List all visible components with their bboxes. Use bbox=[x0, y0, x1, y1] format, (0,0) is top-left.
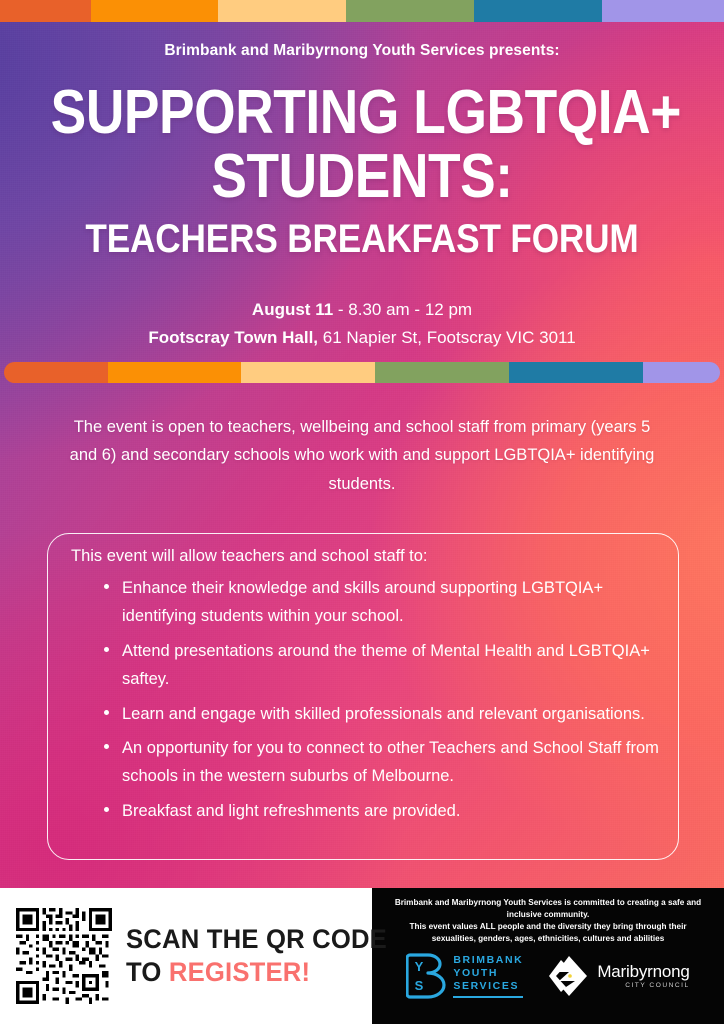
footer-logos: Y S BRIMBANK YOUTH SERVICES bbox=[372, 952, 724, 1000]
outcome-list-item: Attend presentations around the theme of… bbox=[100, 637, 666, 694]
maribyrnong-diamond-icon bbox=[545, 954, 589, 998]
outcome-list-item-label: Learn and engage with skilled profession… bbox=[122, 705, 645, 723]
stripe-orange bbox=[91, 0, 219, 22]
outcome-list-item-label: Breakfast and light refreshments are pro… bbox=[122, 802, 460, 820]
bys-mark-letter-s: S bbox=[415, 978, 424, 993]
stripe-green bbox=[346, 0, 474, 22]
outcome-list-item: An opportunity for you to connect to oth… bbox=[100, 734, 666, 791]
scan-instruction: SCAN THE QR CODE TO REGISTER! bbox=[126, 923, 387, 989]
scan-line-2-prefix: TO bbox=[126, 957, 169, 987]
outcome-list-item-label: An opportunity for you to connect to oth… bbox=[122, 739, 659, 785]
top-stripe-bar bbox=[0, 0, 724, 22]
page-title-line-1: SUPPORTING LGBTQIA+ bbox=[51, 84, 674, 142]
outcome-list-item: Learn and engage with skilled profession… bbox=[100, 700, 666, 728]
event-time: - 8.30 am - 12 pm bbox=[333, 300, 472, 319]
qr-panel: SCAN THE QR CODE TO REGISTER! bbox=[0, 888, 372, 1024]
bys-word-services: SERVICES bbox=[453, 980, 523, 993]
bullet-dot-icon bbox=[104, 710, 109, 715]
bullet-dot-icon bbox=[104, 647, 109, 652]
event-venue-line: Footscray Town Hall, 61 Napier St, Foots… bbox=[0, 324, 724, 352]
bullet-dot-icon bbox=[104, 744, 109, 749]
brimbank-youth-services-logo: Y S BRIMBANK YOUTH SERVICES bbox=[406, 952, 523, 1000]
bottom-section: SCAN THE QR CODE TO REGISTER! Brimbank a… bbox=[0, 888, 724, 1024]
maribyrnong-name: Maribyrnong bbox=[597, 963, 689, 980]
event-date-line: August 11 - 8.30 am - 12 pm bbox=[0, 296, 724, 324]
event-details: August 11 - 8.30 am - 12 pm Footscray To… bbox=[0, 296, 724, 352]
qr-code[interactable] bbox=[16, 908, 112, 1004]
poster: Brimbank and Maribyrnong Youth Services … bbox=[0, 0, 724, 1024]
scan-line-1: SCAN THE QR CODE bbox=[126, 923, 387, 956]
maribyrnong-wordmark: Maribyrnong CITY COUNCIL bbox=[597, 963, 689, 989]
page-title-line-2: STUDENTS: bbox=[51, 148, 674, 206]
stripe-peach bbox=[241, 362, 375, 383]
outcomes-list: Enhance their knowledge and skills aroun… bbox=[100, 574, 666, 831]
bullet-dot-icon bbox=[104, 807, 109, 812]
presents-line: Brimbank and Maribyrnong Youth Services … bbox=[0, 42, 724, 60]
maribyrnong-city-council-logo: Maribyrnong CITY COUNCIL bbox=[545, 954, 689, 998]
event-date-bold: August 11 bbox=[252, 300, 333, 319]
maribyrnong-subtitle: CITY COUNCIL bbox=[597, 982, 689, 989]
stripe-orange-dark bbox=[4, 362, 108, 383]
bys-word-youth: YOUTH bbox=[453, 967, 523, 980]
stripe-green bbox=[375, 362, 509, 383]
maribyrnong-dot-icon bbox=[569, 974, 573, 978]
stripe-peach bbox=[218, 0, 346, 22]
page-subtitle: TEACHERS BREAKFAST FORUM bbox=[43, 217, 680, 262]
outcomes-box: This event will allow teachers and schoo… bbox=[47, 533, 679, 860]
stripe-orange bbox=[108, 362, 241, 383]
bys-wordmark: BRIMBANK YOUTH SERVICES bbox=[453, 954, 523, 994]
intro-paragraph: The event is open to teachers, wellbeing… bbox=[62, 413, 662, 498]
outcome-list-item: Enhance their knowledge and skills aroun… bbox=[100, 574, 666, 631]
register-highlight: REGISTER! bbox=[169, 957, 310, 987]
title-block: SUPPORTING LGBTQIA+ STUDENTS: TEACHERS B… bbox=[0, 84, 724, 262]
stripe-lavender bbox=[643, 362, 720, 383]
bys-word-brimbank: BRIMBANK bbox=[453, 954, 523, 967]
footer-blurb-line-2: inclusive community. bbox=[383, 909, 713, 921]
mid-stripe-bar bbox=[4, 362, 720, 383]
outcome-list-item: Breakfast and light refreshments are pro… bbox=[100, 797, 666, 825]
stripe-blue bbox=[474, 0, 602, 22]
footer-blurb: Brimbank and Maribyrnong Youth Services … bbox=[383, 897, 713, 945]
bys-underline bbox=[453, 996, 523, 998]
scan-line-2: TO REGISTER! bbox=[126, 956, 387, 989]
bys-mark-letter-y: Y bbox=[415, 959, 424, 974]
event-venue-bold: Footscray Town Hall, bbox=[148, 328, 318, 347]
footer-panel: Brimbank and Maribyrnong Youth Services … bbox=[372, 888, 724, 1024]
outcome-list-item-label: Attend presentations around the theme of… bbox=[122, 642, 650, 688]
stripe-blue bbox=[509, 362, 643, 383]
qr-code-image bbox=[16, 908, 112, 1004]
event-address: 61 Napier St, Footscray VIC 3011 bbox=[318, 328, 576, 347]
bullet-dot-icon bbox=[104, 584, 109, 589]
outcome-list-item-label: Enhance their knowledge and skills aroun… bbox=[122, 579, 603, 625]
footer-blurb-line-4: sexualities, genders, ages, ethnicities,… bbox=[383, 933, 713, 945]
footer-blurb-line-1: Brimbank and Maribyrnong Youth Services … bbox=[383, 897, 713, 909]
outcomes-heading: This event will allow teachers and schoo… bbox=[71, 544, 427, 569]
stripe-lavender bbox=[602, 0, 724, 22]
footer-blurb-line-3: This event values ALL people and the div… bbox=[383, 921, 713, 933]
bys-b-mark-icon: Y S bbox=[406, 952, 446, 1000]
stripe-orange-dark bbox=[0, 0, 91, 22]
